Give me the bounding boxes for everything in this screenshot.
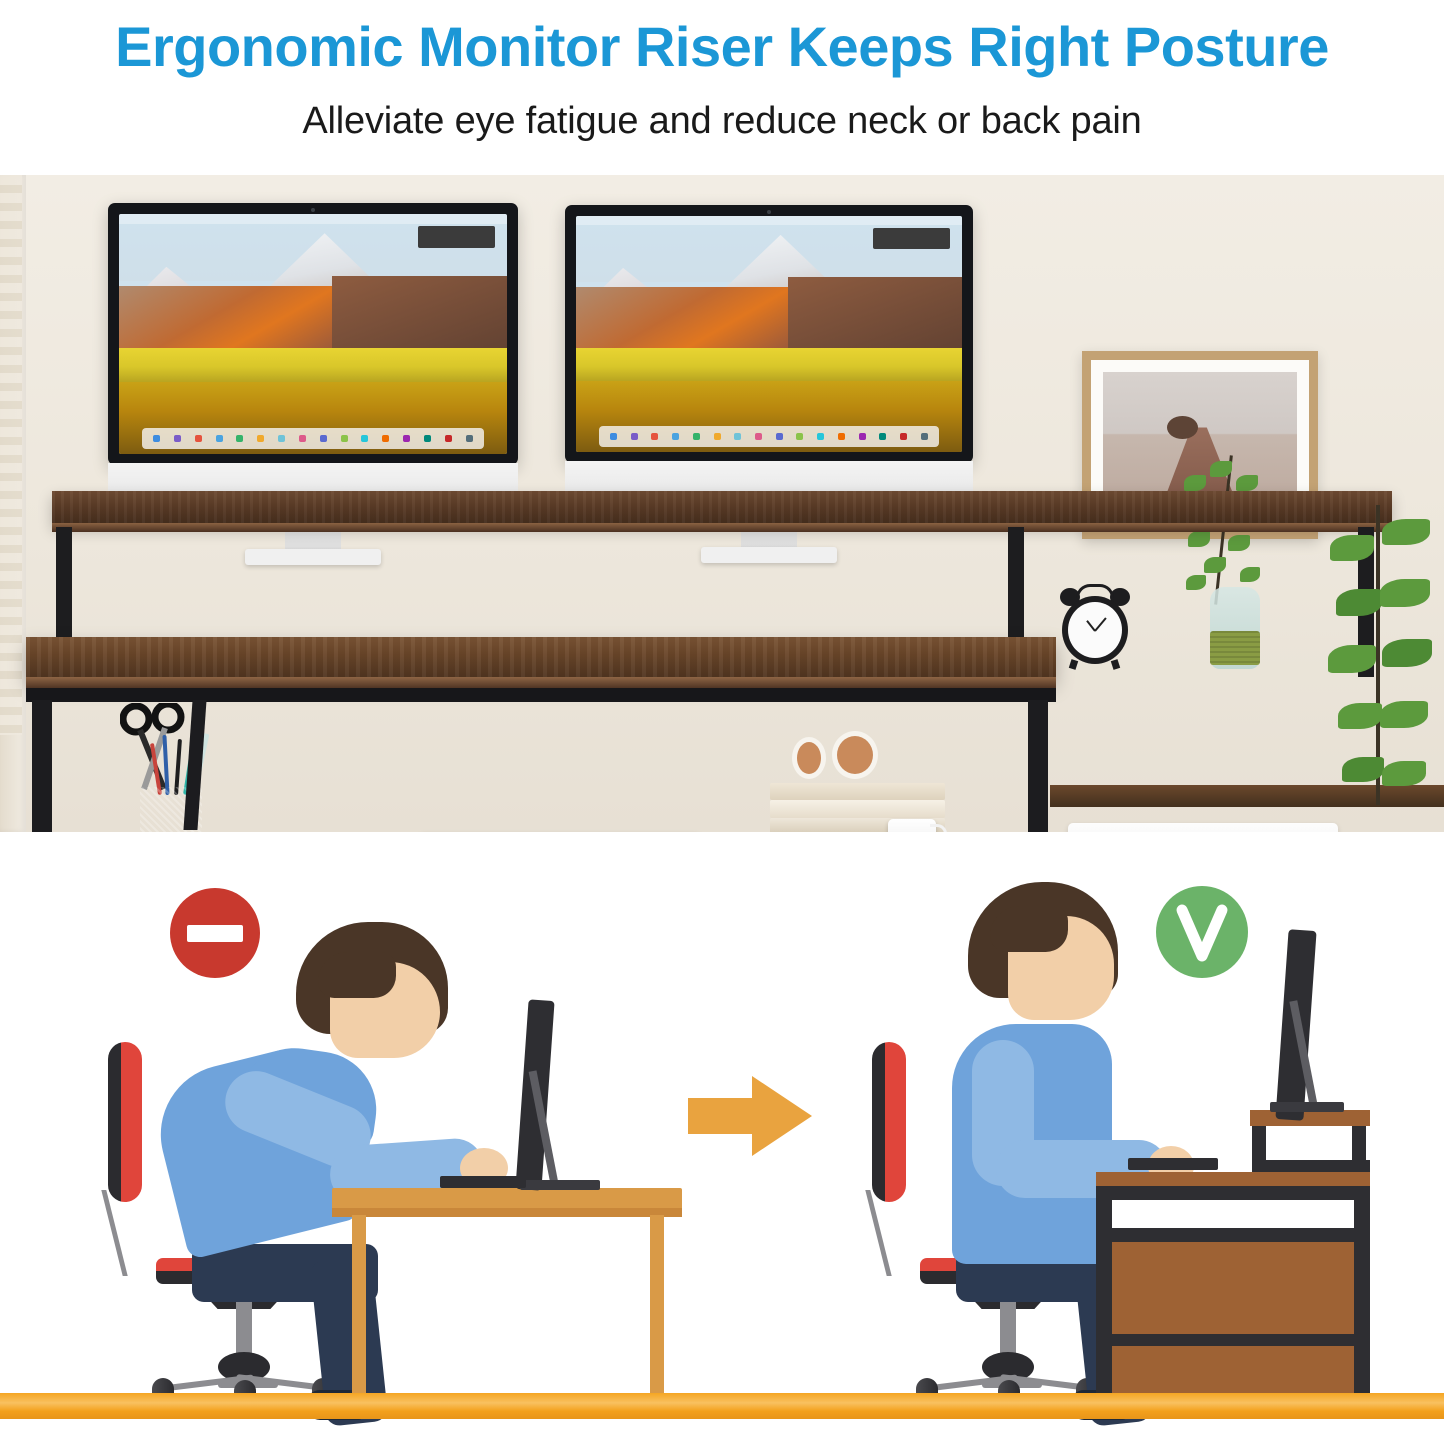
menu-bar: [576, 216, 962, 225]
desk-surface: [26, 637, 1056, 679]
page-subtitle: Alleviate eye fatigue and reduce neck or…: [0, 100, 1444, 143]
screen-trees: [119, 348, 507, 382]
monitor-base: [1270, 1102, 1344, 1112]
curtain-lace: [0, 175, 22, 735]
webcam-icon: [767, 210, 771, 214]
art-rock: [1167, 416, 1198, 439]
minus-sign-icon: [170, 888, 260, 978]
monitor-base: [520, 1180, 600, 1190]
page-title: Ergonomic Monitor Riser Keeps Right Post…: [0, 18, 1444, 77]
keyboard-raised: [1128, 1158, 1218, 1170]
product-infographic: Ergonomic Monitor Riser Keeps Right Post…: [0, 0, 1444, 1444]
floor-bar: [0, 1393, 1444, 1419]
product-photo: THRIFT EPSON EPSON: [0, 175, 1444, 832]
glass-vase: [1210, 587, 1260, 669]
screen-dock: [142, 428, 483, 450]
wood-grain: [26, 637, 1056, 679]
arrow-right-icon: [688, 1074, 812, 1158]
riser-shelf-top: [1250, 1110, 1370, 1126]
screen-ridge-two: [788, 277, 962, 357]
webcam-icon: [311, 208, 315, 212]
check-sign-icon: [1156, 886, 1248, 978]
vase-wrap: [1210, 631, 1260, 665]
riser-shelf-rail: [1252, 1160, 1370, 1172]
cabinet-open-slot: [1112, 1200, 1354, 1228]
keyboard-low: [440, 1176, 526, 1188]
cabinet-rail-top: [1096, 1186, 1370, 1200]
book-middle: [770, 800, 945, 818]
monitor-screen: [576, 216, 962, 452]
headphone-cup-right: [832, 731, 878, 779]
cabinet-frame-left: [1096, 1186, 1112, 1418]
wood-grain: [52, 491, 1392, 525]
houseplant: [1324, 505, 1444, 832]
screen-trees: [576, 348, 962, 381]
desk-top-surface: [332, 1188, 682, 1210]
alarm-clock: [1058, 580, 1132, 668]
screen-notification: [418, 226, 496, 248]
screen-ridge-two: [332, 276, 507, 358]
chair-backrest: [108, 1042, 142, 1202]
printer-lid: [1068, 823, 1338, 832]
cabinet-divider-1: [1096, 1228, 1370, 1242]
screen-dock: [599, 426, 939, 447]
desk-leg-back: [650, 1215, 664, 1395]
screen-notification: [873, 228, 950, 249]
book-top: [770, 783, 945, 800]
person-fringe: [318, 952, 396, 998]
monitor-foot: [245, 549, 381, 565]
minus-bar: [187, 925, 243, 942]
person-fringe: [990, 906, 1068, 952]
printer: EPSON EPSON: [1062, 823, 1352, 832]
headphone-cup-left: [792, 737, 826, 779]
check-glyph: [1156, 886, 1248, 978]
cabinet-frame-right: [1354, 1186, 1370, 1418]
cabinet-drawer-upper[interactable]: [1112, 1242, 1354, 1334]
desk-leg-front: [352, 1215, 366, 1395]
chair-backrest: [872, 1042, 906, 1202]
riser-front-edge: [52, 523, 1392, 532]
desk-metal-rail: [26, 688, 1056, 702]
desk-leg-left: [32, 700, 52, 832]
monitor-right: [565, 205, 973, 463]
monitor-screen: [119, 214, 507, 454]
coffee-cup: [888, 819, 936, 832]
monitor-left: [108, 203, 518, 465]
cabinet-divider-2: [1096, 1334, 1370, 1346]
menu-bar: [119, 214, 507, 224]
monitor-foot: [701, 547, 837, 563]
header-block: Ergonomic Monitor Riser Keeps Right Post…: [0, 0, 1444, 175]
monitor-riser-shelf: [52, 491, 1392, 525]
desk-top-edge: [332, 1208, 682, 1217]
desk-leg-right: [1028, 700, 1048, 832]
